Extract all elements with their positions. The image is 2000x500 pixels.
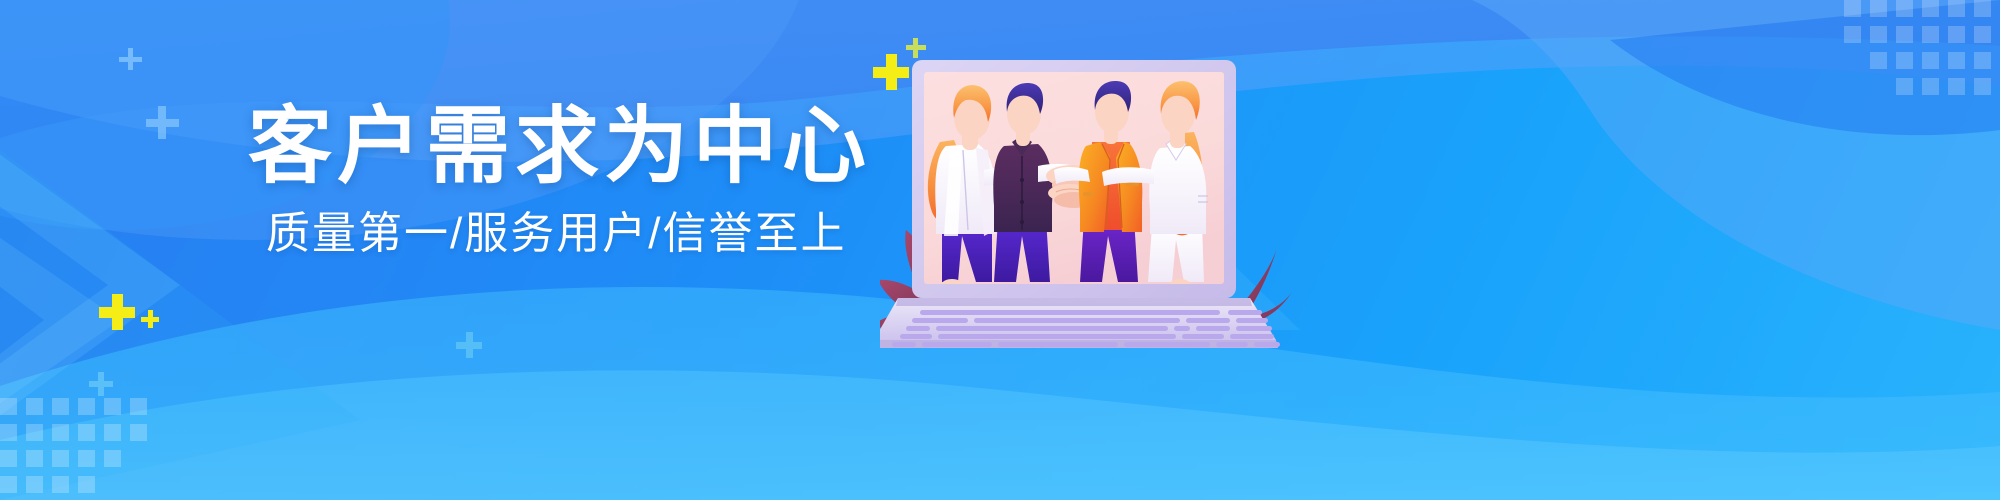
key-row-5c: [998, 342, 1118, 347]
key-row-3c: [1174, 326, 1190, 331]
key-row-1b: [1228, 310, 1262, 315]
person-4-blouse: [1149, 146, 1206, 234]
key-row-2d: [1236, 318, 1268, 323]
key-row-4d: [1230, 334, 1274, 339]
key-row-1a: [920, 310, 1220, 315]
banner-headline: 客户需求为中心: [248, 104, 868, 188]
banner-subline: 质量第一/服务用户/信誉至上: [266, 212, 868, 256]
key-row-4a: [900, 334, 932, 339]
key-row-5d: [1124, 342, 1210, 347]
key-row-4b: [938, 334, 1176, 339]
key-row-5e: [1216, 342, 1248, 347]
copy-block: 客户需求为中心 质量第一/服务用户/信誉至上: [248, 104, 868, 256]
key-row-3a: [906, 326, 930, 331]
laptop-illustration-svg: [880, 30, 1300, 360]
person-2-shirt: [993, 144, 1052, 232]
key-row-5f: [1254, 342, 1280, 347]
person-2-button-3: [1020, 220, 1024, 224]
key-row-5a: [892, 342, 916, 347]
person-3-pocket-2: [1083, 192, 1093, 196]
key-row-3d: [1196, 326, 1230, 331]
key-row-2c: [1186, 318, 1230, 323]
laptop-team-illustration: [880, 30, 1300, 360]
key-row-3e: [1236, 326, 1272, 331]
person-2-button-1: [1020, 178, 1024, 182]
key-row-2a: [912, 318, 968, 323]
key-row-2b: [974, 318, 1180, 323]
key-row-3b: [936, 326, 1168, 331]
promo-banner: 客户需求为中心 质量第一/服务用户/信誉至上: [0, 0, 2000, 500]
person-2-button-2: [1020, 200, 1024, 204]
key-row-4c: [1182, 334, 1224, 339]
laptop-hinge: [896, 298, 1252, 306]
key-row-5b: [922, 342, 992, 347]
